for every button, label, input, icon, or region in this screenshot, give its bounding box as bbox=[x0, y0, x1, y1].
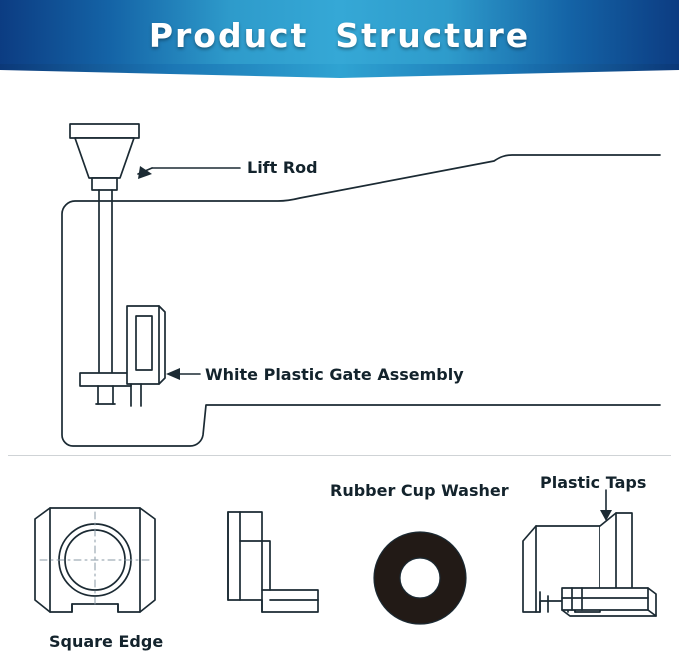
square-edge-front-view bbox=[35, 508, 155, 612]
square-edge-side-view bbox=[228, 512, 318, 612]
rubber-cup-washer-part bbox=[374, 532, 466, 624]
label-square-edge: Square Edge bbox=[49, 632, 163, 651]
product-structure-diagram: Product Structure bbox=[0, 0, 679, 653]
diagram-artwork bbox=[0, 0, 679, 653]
header-banner: Product Structure bbox=[0, 0, 679, 78]
section-divider bbox=[8, 455, 671, 456]
page-title: Product Structure bbox=[0, 16, 679, 55]
plastic-taps-part bbox=[523, 513, 656, 616]
leader-lines bbox=[138, 166, 612, 521]
square-edge-centerlines bbox=[40, 512, 150, 608]
gate-assembly-part bbox=[127, 306, 165, 406]
label-lift-rod: Lift Rod bbox=[247, 158, 318, 177]
lift-rod-part bbox=[70, 124, 139, 404]
tank-body-outline bbox=[62, 155, 660, 446]
label-gate-assembly: White Plastic Gate Assembly bbox=[205, 365, 464, 384]
label-plastic-taps: Plastic Taps bbox=[540, 473, 646, 492]
label-rubber-cup-washer: Rubber Cup Washer bbox=[330, 481, 509, 500]
